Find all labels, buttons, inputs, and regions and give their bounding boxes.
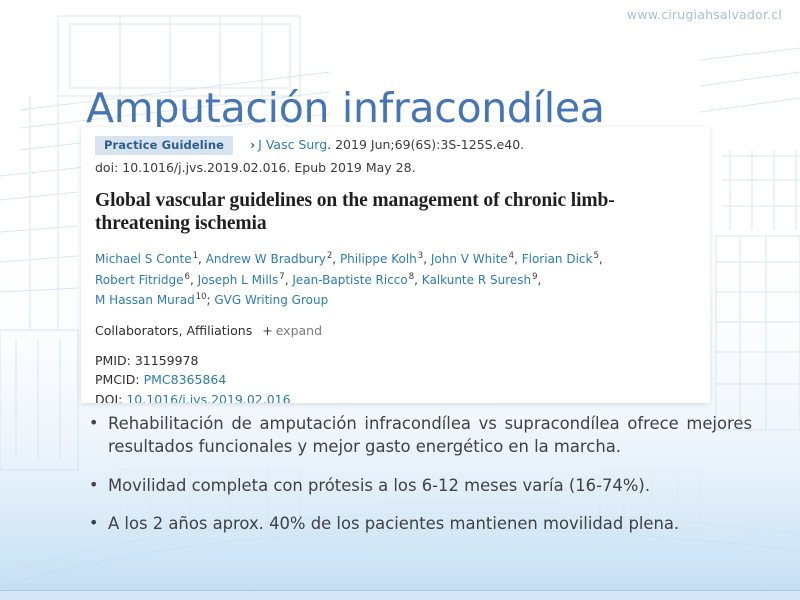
site-url-watermark: www.cirugiahsalvador.cl: [627, 7, 782, 22]
author-name[interactable]: Michael S Conte: [95, 252, 192, 266]
bottom-band: [0, 591, 800, 600]
bottom-divider: [0, 590, 800, 591]
list-item: • A los 2 años aprox. 40% de los pacient…: [86, 512, 752, 535]
author-name[interactable]: Kalkunte R Suresh: [422, 273, 531, 287]
list-item: • Rehabilitación de amputación infracond…: [86, 412, 752, 459]
list-item-text: A los 2 años aprox. 40% de los pacientes…: [108, 514, 679, 533]
bullet-list: • Rehabilitación de amputación infracond…: [86, 412, 752, 535]
doi-link[interactable]: 10.1016/j.jvs.2019.02.016: [126, 392, 290, 403]
pubmed-record-card: Practice Guideline ›J Vasc Surg. 2019 Ju…: [81, 127, 710, 403]
doi-label: DOI:: [95, 392, 122, 403]
author-affiliation-ref[interactable]: 10: [195, 292, 207, 302]
author-name[interactable]: Joseph L Mills: [198, 273, 279, 287]
identifier-list: PMID: 31159978 PMCID: PMC8365864 DOI: 10…: [95, 351, 696, 403]
journal-volume-pages: . 2019 Jun;69(6S):3S-125S.e40.: [327, 137, 524, 152]
pmid-row: PMID: 31159978: [95, 351, 696, 371]
pmid-value: 31159978: [135, 353, 199, 368]
author-name[interactable]: Jean-Baptiste Ricco: [292, 273, 407, 287]
author-name[interactable]: Andrew W Bradbury: [206, 252, 326, 266]
list-item-text: Movilidad completa con prótesis a los 6-…: [108, 476, 650, 495]
pmcid-row: PMCID: PMC8365864: [95, 370, 696, 390]
author-name[interactable]: M Hassan Murad: [95, 293, 195, 307]
bullet-marker-icon: •: [89, 412, 98, 435]
doi-epub-line: doi: 10.1016/j.jvs.2019.02.016. Epub 201…: [95, 160, 696, 175]
author-name[interactable]: John V White: [431, 252, 508, 266]
list-item-text: Rehabilitación de amputación infracondíl…: [108, 414, 752, 456]
chevron-right-icon: ›: [250, 137, 255, 152]
author-group-name[interactable]: GVG Writing Group: [214, 293, 328, 307]
slide-canvas: www.cirugiahsalvador.cl Amputación infra…: [0, 0, 800, 600]
pmid-label: PMID:: [95, 353, 131, 368]
author-name[interactable]: Robert Fitridge: [95, 273, 184, 287]
journal-name-link[interactable]: J Vasc Surg: [258, 137, 327, 152]
list-item: • Movilidad completa con prótesis a los …: [86, 474, 752, 497]
publication-type-badge[interactable]: Practice Guideline: [95, 136, 233, 155]
citation-row: Practice Guideline ›J Vasc Surg. 2019 Ju…: [95, 136, 696, 155]
plus-icon: +: [262, 323, 272, 338]
author-list: Michael S Conte1, Andrew W Bradbury2, Ph…: [95, 249, 695, 311]
journal-citation: ›J Vasc Surg. 2019 Jun;69(6S):3S-125S.e4…: [250, 137, 524, 152]
expand-label: expand: [276, 323, 322, 338]
author-name[interactable]: Philippe Kolh: [340, 252, 417, 266]
expand-toggle[interactable]: +expand: [262, 323, 322, 338]
article-title: Global vascular guidelines on the manage…: [95, 189, 680, 235]
page-title: Amputación infracondílea: [86, 84, 605, 132]
pmcid-label: PMCID:: [95, 372, 140, 387]
collaborators-affiliations-label: Collaborators, Affiliations: [95, 323, 252, 338]
collaborators-affiliations-row: Collaborators, Affiliations+expand: [95, 323, 696, 338]
doi-row: DOI: 10.1016/j.jvs.2019.02.016: [95, 390, 696, 403]
pmcid-link[interactable]: PMC8365864: [144, 372, 227, 387]
bullet-marker-icon: •: [89, 512, 98, 535]
author-name[interactable]: Florian Dick: [522, 252, 593, 266]
bullet-marker-icon: •: [89, 474, 98, 497]
